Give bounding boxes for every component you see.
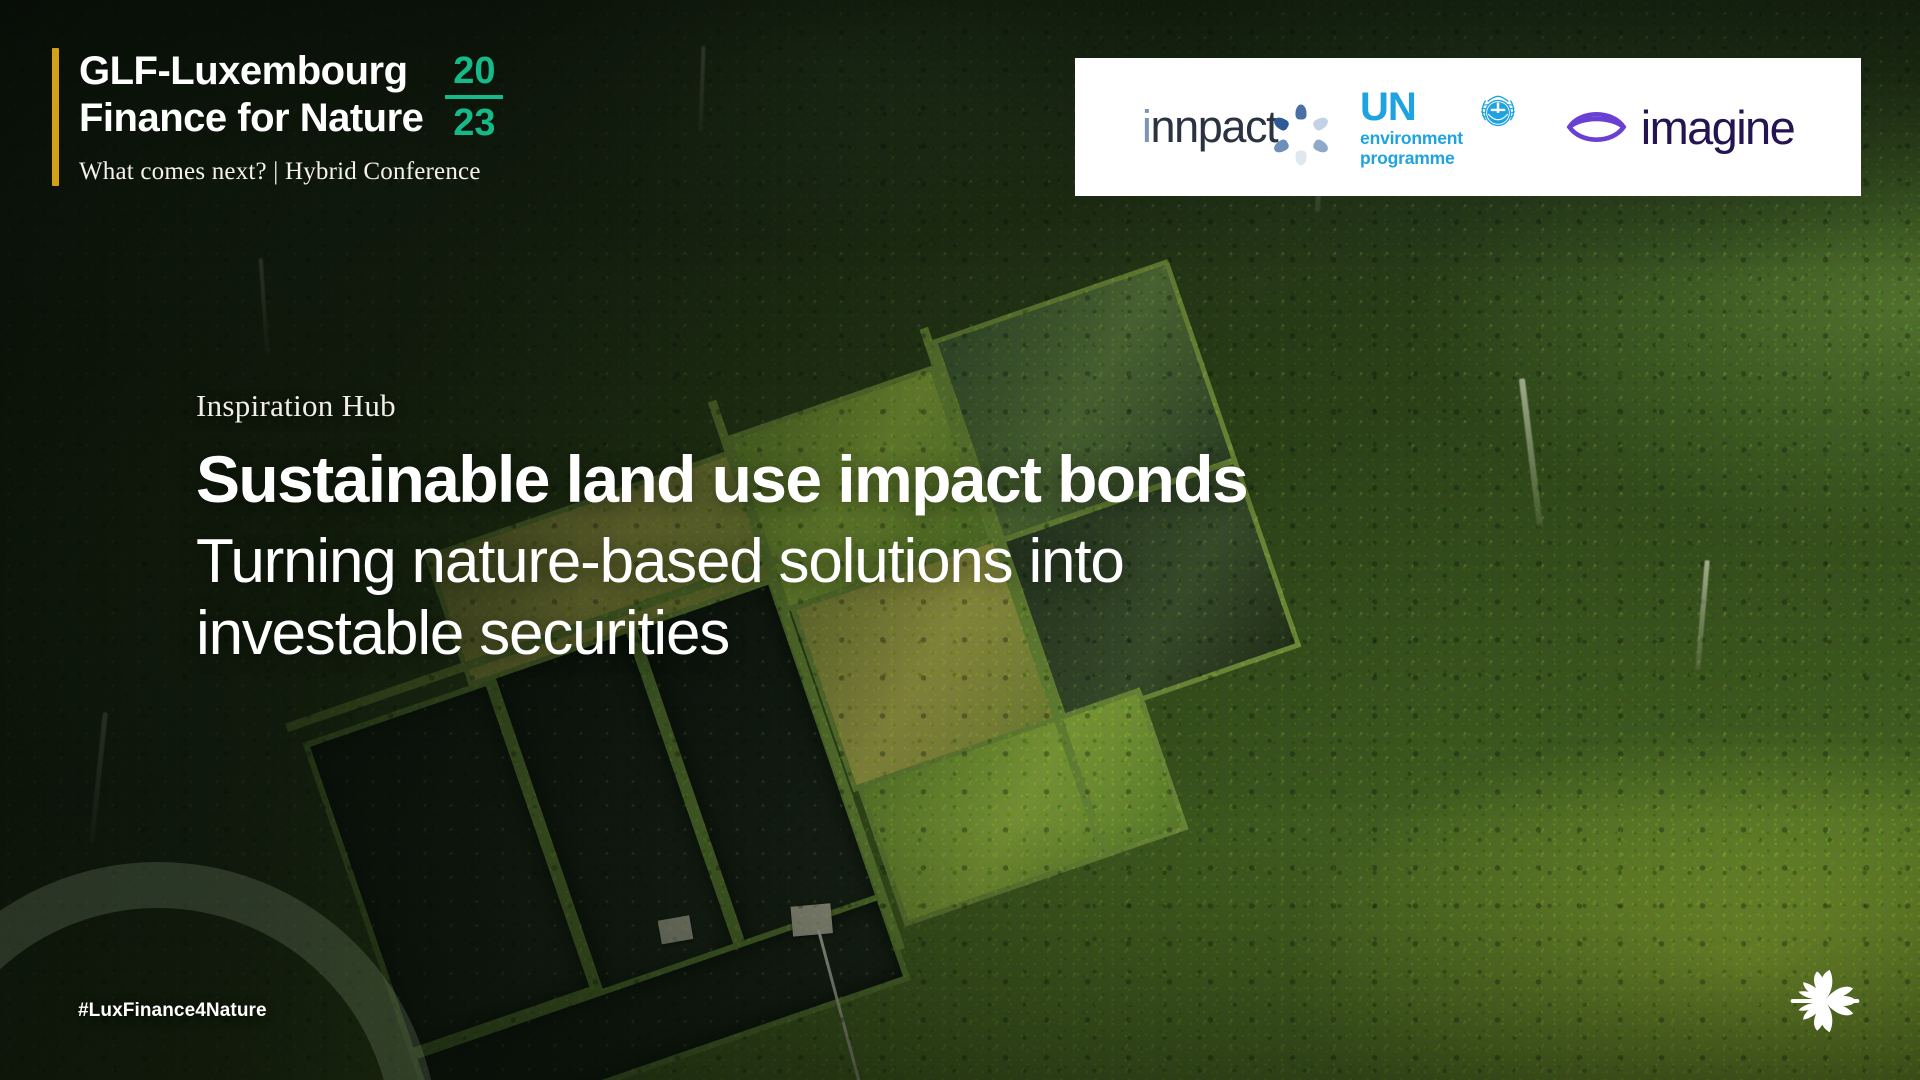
session-eyebrow: Inspiration Hub: [196, 388, 1516, 424]
innpact-wordmark-rest: nnpact: [1150, 101, 1277, 152]
innpact-wordmark: innpact: [1142, 101, 1277, 153]
gold-accent-bar: [52, 48, 59, 186]
imagine-eye-icon: [1565, 105, 1627, 149]
un-emblem-icon: [1472, 88, 1524, 140]
unep-line-programme: programme: [1360, 150, 1463, 168]
event-title-line2: Finance for Nature: [79, 95, 423, 142]
session-headline: Sustainable land use impact bonds: [196, 446, 1516, 512]
event-lockup: GLF-Luxembourg Finance for Nature 20 23 …: [52, 48, 503, 186]
event-title-line1: GLF-Luxembourg: [79, 48, 423, 95]
glf-leaf-icon: [1786, 962, 1864, 1040]
unep-wordmark: UN environment programme: [1360, 87, 1463, 168]
event-hashtag: #LuxFinance4Nature: [78, 1000, 267, 1022]
logo-imagine: imagine: [1565, 100, 1794, 155]
presentation-slide: GLF-Luxembourg Finance for Nature 20 23 …: [0, 0, 1920, 1080]
unep-line-environment: environment: [1360, 130, 1463, 148]
session-subheadline-line1: Turning nature-based solutions into: [196, 526, 1516, 598]
year-divider-rule: [445, 95, 503, 99]
year-bottom: 23: [453, 102, 495, 145]
event-tagline: What comes next? | Hybrid Conference: [79, 158, 503, 186]
event-year: 20 23: [445, 48, 503, 144]
imagine-wordmark: imagine: [1641, 100, 1794, 155]
session-subheadline-line2: investable securities: [196, 598, 1516, 670]
event-title: GLF-Luxembourg Finance for Nature: [79, 48, 423, 142]
session-subheadline: Turning nature-based solutions into inve…: [196, 526, 1516, 670]
logo-innpact: innpact: [1142, 101, 1319, 153]
unep-line-un: UN: [1360, 87, 1463, 127]
year-top: 20: [453, 50, 495, 93]
partner-logo-bar: innpact UN environment programme: [1075, 58, 1861, 196]
main-message: Inspiration Hub Sustainable land use imp…: [196, 388, 1516, 670]
logo-un-environment-programme: UN environment programme: [1360, 87, 1524, 168]
innpact-ring-icon: [1283, 105, 1319, 141]
